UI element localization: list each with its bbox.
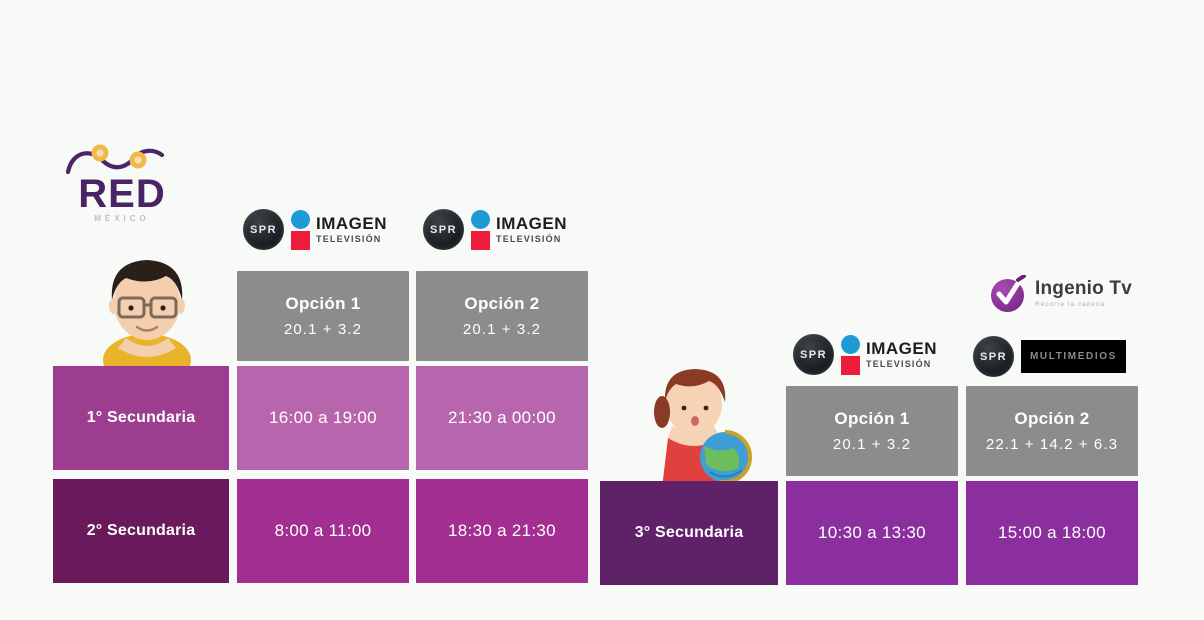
red-mexico-logo: RED MÉXICO [62, 140, 182, 225]
imagen-blue-dot-icon [291, 210, 310, 229]
cell-1sec-option2-time[interactable]: 21:30 a 00:00 [416, 366, 588, 470]
left-option2-channel-logos: SPR IMAGEN TELEVISIÓN [423, 209, 567, 250]
imagen-marks [291, 210, 310, 250]
option-title: Opción 1 [285, 294, 360, 314]
imagen-title: IMAGEN [496, 215, 567, 232]
spr-logo-text: SPR [430, 224, 457, 236]
cell-1sec-option1-time[interactable]: 16:00 a 19:00 [237, 366, 409, 470]
imagen-marks [841, 335, 860, 375]
ingenio-check-badge-icon [990, 275, 1028, 313]
imagen-red-square-icon [291, 231, 310, 250]
girl-with-globe-illustration [632, 368, 760, 488]
cell-3sec-option2-time[interactable]: 15:00 a 18:00 [966, 481, 1138, 585]
left-header-option-1[interactable]: Opción 1 20.1 + 3.2 [237, 271, 409, 361]
spr-logo-text: SPR [980, 351, 1007, 363]
cell-3sec-option1-time[interactable]: 10:30 a 13:30 [786, 481, 958, 585]
imagen-blue-dot-icon [841, 335, 860, 354]
spr-logo-icon: SPR [793, 334, 834, 375]
right-header-option-1[interactable]: Opción 1 20.1 + 3.2 [786, 386, 958, 476]
left-header-option-2[interactable]: Opción 2 20.1 + 3.2 [416, 271, 588, 361]
spr-logo-icon: SPR [973, 336, 1014, 377]
option-title: Opción 2 [1014, 409, 1089, 429]
imagen-television-logo: IMAGEN TELEVISIÓN [291, 210, 387, 250]
left-option1-channel-logos: SPR IMAGEN TELEVISIÓN [243, 209, 387, 250]
row-label-3-secundaria[interactable]: 3° Secundaria [600, 481, 778, 585]
option-channels: 20.1 + 3.2 [463, 321, 541, 338]
ingenio-title: Ingenio Tv [1035, 279, 1132, 298]
spr-logo-icon: SPR [423, 209, 464, 250]
imagen-subtitle: TELEVISIÓN [316, 235, 387, 244]
imagen-red-square-icon [471, 231, 490, 250]
option-channels: 22.1 + 14.2 + 6.3 [986, 436, 1118, 453]
imagen-marks [471, 210, 490, 250]
imagen-red-square-icon [841, 356, 860, 375]
imagen-title: IMAGEN [316, 215, 387, 232]
imagen-blue-dot-icon [471, 210, 490, 229]
boy-with-glasses-illustration [82, 248, 212, 370]
row-label-1-secundaria[interactable]: 1° Secundaria [53, 366, 229, 470]
imagen-subtitle: TELEVISIÓN [866, 360, 937, 369]
cell-2sec-option2-time[interactable]: 18:30 a 21:30 [416, 479, 588, 583]
multimedios-logo: MULTIMEDIOS [1021, 340, 1126, 373]
row-label-2-secundaria[interactable]: 2° Secundaria [53, 479, 229, 583]
right-option2-channel-logos: SPR MULTIMEDIOS [973, 336, 1126, 377]
imagen-title: IMAGEN [866, 340, 937, 357]
cell-2sec-option1-time[interactable]: 8:00 a 11:00 [237, 479, 409, 583]
option-title: Opción 1 [834, 409, 909, 429]
spr-logo-text: SPR [800, 349, 827, 361]
imagen-subtitle: TELEVISIÓN [496, 235, 567, 244]
schedule-board: RED MÉXICO SPR IMAGEN TELEVISIÓN [0, 0, 1204, 620]
right-option1-channel-logos: SPR IMAGEN TELEVISIÓN [793, 334, 937, 375]
red-logo-wordmark: RED [64, 172, 180, 216]
option-title: Opción 2 [464, 294, 539, 314]
spr-logo-icon: SPR [243, 209, 284, 250]
imagen-television-logo: IMAGEN TELEVISIÓN [841, 335, 937, 375]
red-logo-subtitle: MÉXICO [64, 214, 180, 223]
ingenio-subtitle: Recorre la cadena [1035, 302, 1132, 309]
spr-logo-text: SPR [250, 224, 277, 236]
imagen-television-logo: IMAGEN TELEVISIÓN [471, 210, 567, 250]
option-channels: 20.1 + 3.2 [833, 436, 911, 453]
option-channels: 20.1 + 3.2 [284, 321, 362, 338]
ingenio-tv-logo: Ingenio Tv Recorre la cadena [990, 275, 1132, 313]
right-header-option-2[interactable]: Opción 2 22.1 + 14.2 + 6.3 [966, 386, 1138, 476]
